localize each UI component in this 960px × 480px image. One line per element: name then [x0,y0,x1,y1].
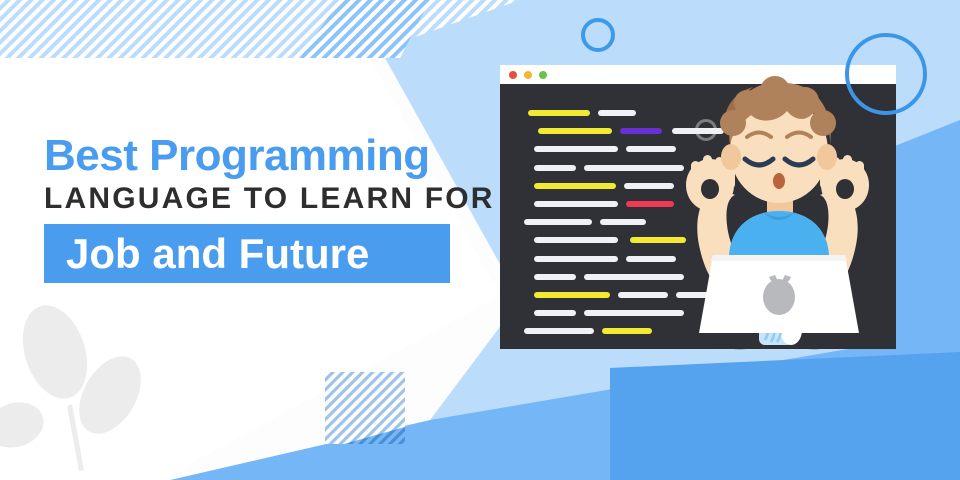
code-line-segment [534,256,618,262]
code-line-segment [524,219,592,225]
code-line-segment [524,328,594,334]
outline-circle-small-icon [581,18,615,52]
code-line-segment [534,310,576,316]
code-line-segment [534,201,618,207]
code-line-segment [528,110,590,116]
code-line-segment [598,110,636,116]
code-line-segment [538,128,612,134]
bottom-blue-dark-right [885,352,960,480]
code-line-segment [534,237,618,243]
code-line-segment [600,219,646,225]
code-line-segment [534,146,618,152]
code-editor-window [500,65,896,349]
code-line-segment [534,274,576,280]
code-line-segment [534,165,576,171]
meditating-developer-illustration [655,75,900,360]
maximize-dot-icon[interactable] [539,71,547,79]
banner-canvas: Best Programming LANGUAGE TO LEARN FOR J… [0,0,960,480]
headline-highlight-band: Job and Future [44,224,450,283]
minimize-dot-icon[interactable] [524,71,532,79]
outline-circle-large-icon [845,33,927,115]
headline-line-2: LANGUAGE TO LEARN FOR [44,184,474,214]
code-line-segment [602,328,652,334]
headline-line-3: Job and Future [66,224,450,283]
code-line-segment [534,183,616,189]
headline-block: Best Programming LANGUAGE TO LEARN FOR J… [44,134,474,283]
close-dot-icon[interactable] [509,71,517,79]
code-line-segment [534,292,610,298]
headline-line-1: Best Programming [44,134,474,178]
hatched-square [325,372,405,444]
